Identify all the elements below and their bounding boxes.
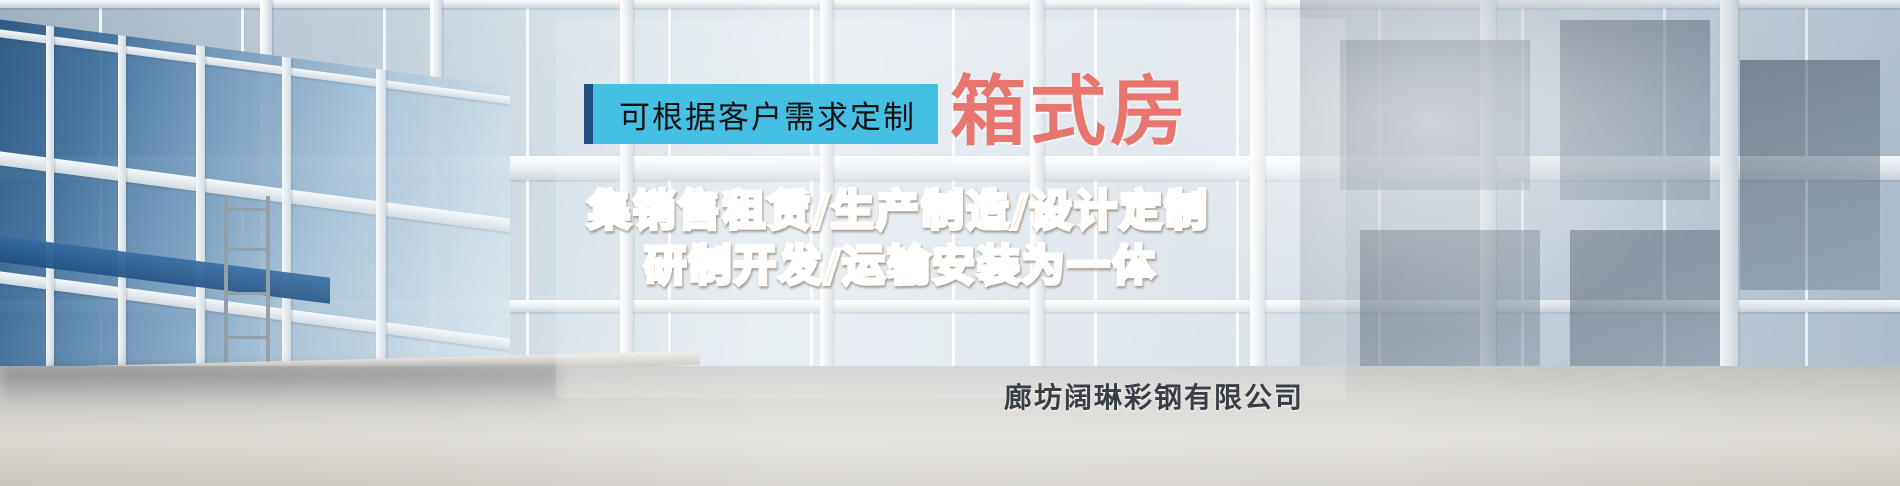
custom-order-badge: 可根据客户需求定制 — [584, 84, 938, 144]
banner-copy: 可根据客户需求定制 箱式房 集销售租赁/生产制造/设计定制 研制开发/运输安装为… — [0, 0, 1900, 486]
tagline-line-2: 研制开发/运输安装为一体 — [644, 245, 1157, 287]
company-name: 廊坊阔琳彩钢有限公司 — [1004, 376, 1304, 416]
custom-order-badge-label: 可根据客户需求定制 — [619, 92, 916, 137]
headline-title: 箱式房 — [950, 74, 1190, 150]
promo-banner: 可根据客户需求定制 箱式房 集销售租赁/生产制造/设计定制 研制开发/运输安装为… — [0, 0, 1900, 486]
tagline-line-1: 集销售租赁/生产制造/设计定制 — [588, 190, 1210, 232]
